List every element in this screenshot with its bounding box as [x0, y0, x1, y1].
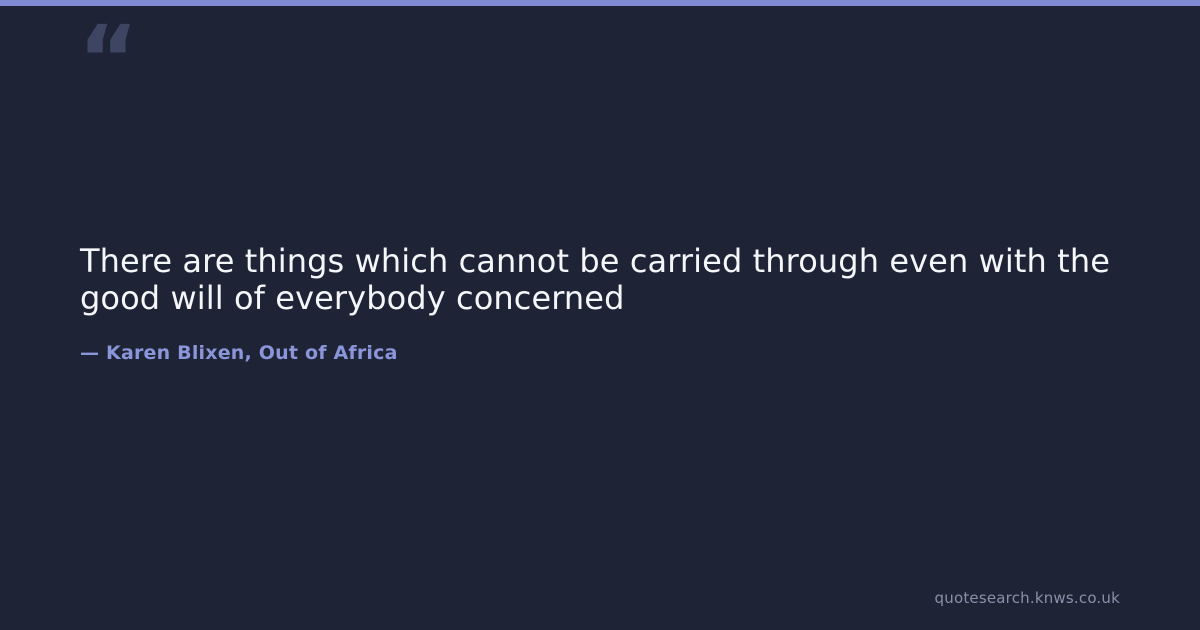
- quote-block: There are things which cannot be carried…: [80, 243, 1126, 317]
- footer-source-url: quotesearch.knws.co.uk: [935, 588, 1120, 608]
- quote-card: “ There are things which cannot be carri…: [0, 0, 1200, 630]
- opening-quote-icon: “: [78, 14, 136, 106]
- quote-text: There are things which cannot be carried…: [80, 243, 1126, 317]
- top-accent-bar: [0, 0, 1200, 6]
- quote-attribution: — Karen Blixen, Out of Africa: [80, 340, 398, 366]
